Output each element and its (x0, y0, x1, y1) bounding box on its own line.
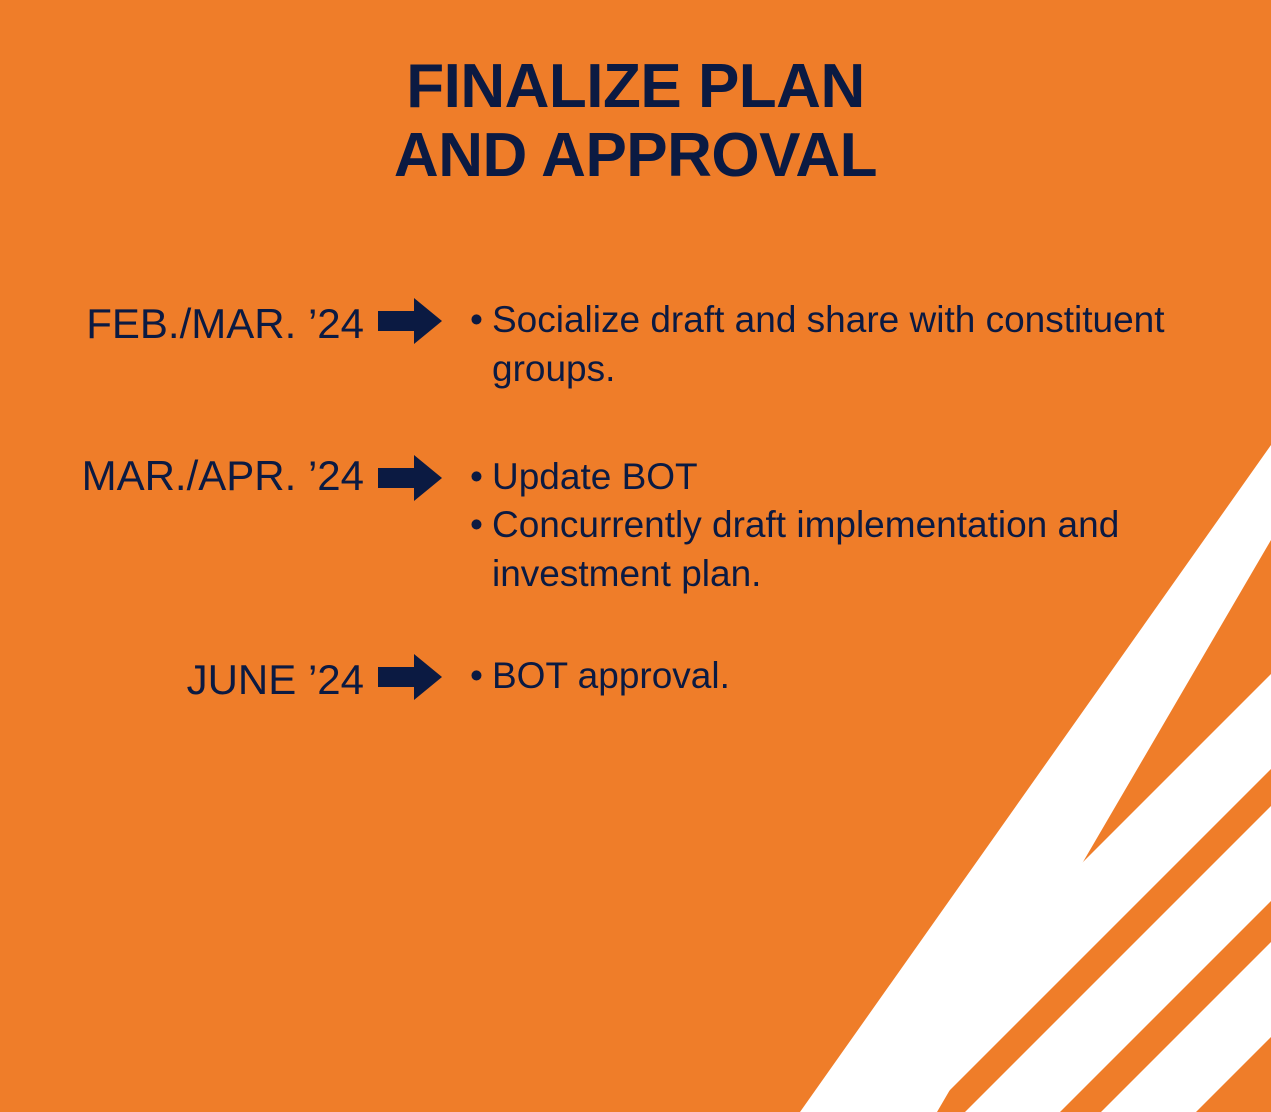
bullet-text: Concurrently draft implementation and in… (492, 501, 1240, 599)
timeline-date-label: FEB./MAR. ’24 (86, 303, 364, 345)
page-title-line-1: FINALIZE PLAN (0, 52, 1271, 121)
timeline-row: FEB./MAR. ’24 • Socialize draft and shar… (0, 296, 1271, 394)
timeline-row-bullets: • BOT approval. (450, 652, 1240, 701)
stripe-3 (1101, 942, 1271, 1112)
timeline-date-label: JUNE ’24 (187, 659, 364, 701)
timeline-list: FEB./MAR. ’24 • Socialize draft and shar… (0, 296, 1271, 705)
bullet-item: • BOT approval. (470, 652, 1240, 701)
bullet-item: • Update BOT (470, 453, 1240, 502)
bullet-text: Update BOT (492, 453, 1240, 502)
timeline-row-label-cell: JUNE ’24 (0, 652, 450, 705)
timeline-row-bullets: • Update BOT • Concurrently draft implem… (450, 453, 1240, 599)
timeline-row-label-cell: FEB./MAR. ’24 (0, 296, 450, 349)
slide-canvas: FINALIZE PLAN AND APPROVAL FEB./MAR. ’24… (0, 0, 1271, 1112)
page-title: FINALIZE PLAN AND APPROVAL (0, 52, 1271, 191)
arrow-right-icon (378, 654, 442, 705)
bullet-text: Socialize draft and share with constitue… (492, 296, 1240, 394)
timeline-row: MAR./APR. ’24 • Update BOT • Concurrentl… (0, 453, 1271, 599)
timeline-row-label-cell: MAR./APR. ’24 (0, 453, 450, 506)
bullet-dot-icon: • (470, 501, 492, 550)
arrow-right-icon (378, 298, 442, 349)
arrow-right-icon (378, 455, 442, 506)
timeline-row-bullets: • Socialize draft and share with constit… (450, 296, 1240, 394)
bullet-item: • Concurrently draft implementation and … (470, 501, 1240, 599)
timeline-date-label: MAR./APR. ’24 (82, 455, 364, 497)
bullet-text: BOT approval. (492, 652, 1240, 701)
bullet-dot-icon: • (470, 453, 492, 502)
bullet-dot-icon: • (470, 296, 492, 345)
page-title-line-2: AND APPROVAL (0, 121, 1271, 190)
stripe-1 (833, 674, 1271, 1112)
timeline-row: JUNE ’24 • BOT approval. (0, 652, 1271, 705)
bullet-dot-icon: • (470, 652, 492, 701)
bullet-item: • Socialize draft and share with constit… (470, 296, 1240, 394)
stripe-2 (965, 806, 1271, 1112)
